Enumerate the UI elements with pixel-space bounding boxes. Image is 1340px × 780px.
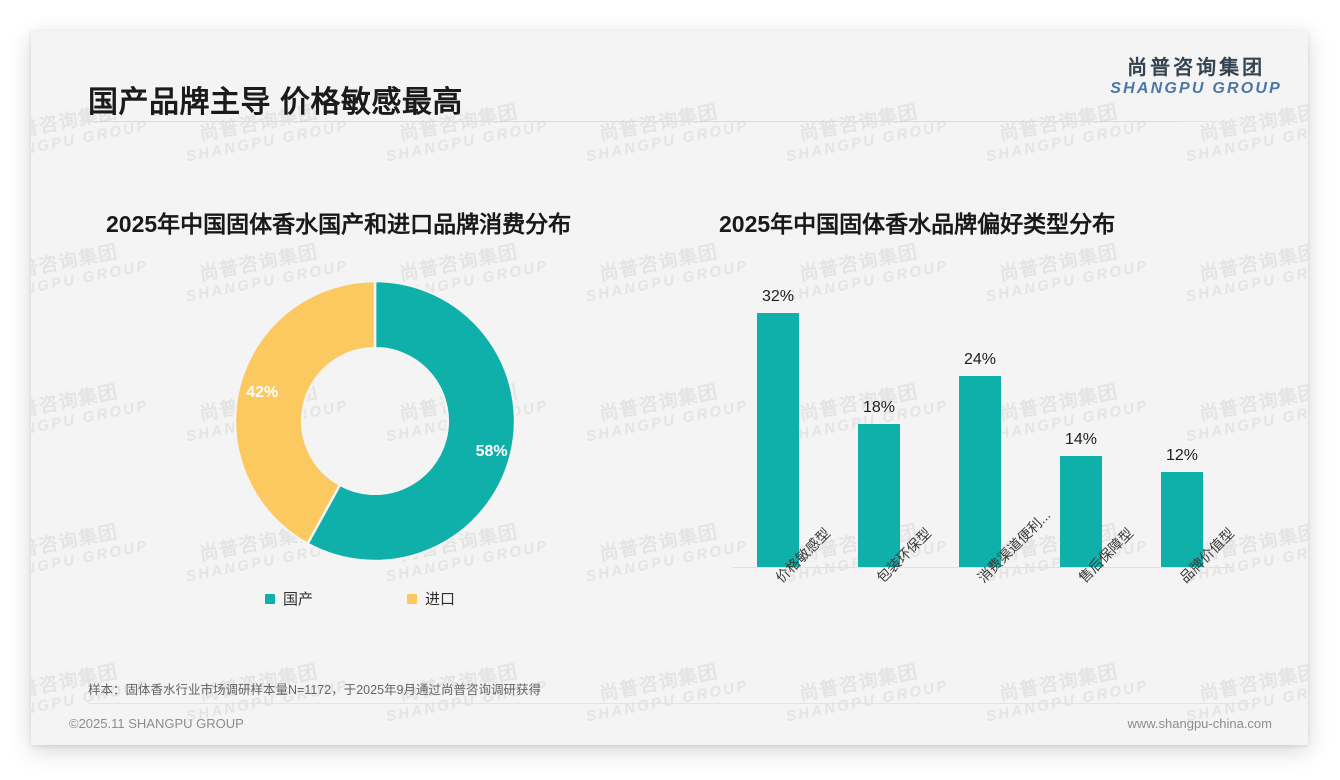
bar-group: 12% bbox=[1161, 281, 1203, 567]
slide-footer: ©2025.11 SHANGPU GROUP www.shangpu-china… bbox=[31, 705, 1308, 745]
watermark-en: SHANGPU GROUP bbox=[985, 118, 1151, 166]
donut-value-label: 58% bbox=[476, 443, 508, 460]
bar-value-label: 18% bbox=[836, 399, 922, 417]
bar-value-label: 14% bbox=[1038, 431, 1124, 449]
bar-group: 14% bbox=[1060, 281, 1102, 567]
watermark-en: SHANGPU GROUP bbox=[785, 118, 951, 166]
bar-rect[interactable] bbox=[959, 376, 1001, 567]
donut-svg: 58%42% bbox=[231, 277, 519, 565]
footer-website[interactable]: www.shangpu-china.com bbox=[1127, 716, 1272, 731]
bar-chart: 32%18%24%14%12% 价格敏感型包装环保型消费渠道便利...售后保障型… bbox=[725, 281, 1245, 581]
watermark-en: SHANGPU GROUP bbox=[585, 118, 751, 166]
donut-legend: 国产 进口 bbox=[265, 588, 565, 609]
page-title: 国产品牌主导 价格敏感最高 bbox=[88, 77, 463, 121]
donut-chart: 58%42% bbox=[231, 277, 519, 565]
slide-header: 国产品牌主导 价格敏感最高 尚普咨询集团 SHANGPU GROUP bbox=[31, 31, 1308, 123]
bar-group: 18% bbox=[858, 281, 900, 567]
bar-chart-title: 2025年中国固体香水品牌偏好类型分布 bbox=[719, 205, 1115, 239]
brand-logo-cn: 尚普咨询集团 bbox=[1110, 58, 1282, 79]
brand-logo-en: SHANGPU GROUP bbox=[1110, 81, 1282, 98]
donut-value-label: 42% bbox=[246, 384, 278, 401]
watermark-en: SHANGPU GROUP bbox=[185, 118, 351, 166]
bar-plot-area: 32%18%24%14%12% bbox=[725, 281, 1245, 567]
bar-value-label: 24% bbox=[937, 351, 1023, 369]
header-divider bbox=[88, 121, 1251, 122]
watermark-en: SHANGPU GROUP bbox=[1185, 118, 1308, 166]
bar-value-label: 12% bbox=[1139, 447, 1225, 465]
footer-copyright: ©2025.11 SHANGPU GROUP bbox=[69, 716, 244, 731]
legend-label-domestic: 国产 bbox=[283, 588, 313, 609]
chart-panel-donut: 2025年中国固体香水国产和进口品牌消费分布 58%42% 国产 进口 bbox=[53, 173, 673, 643]
legend-item-domestic[interactable]: 国产 bbox=[265, 588, 313, 609]
slide-canvas: 尚普咨询集团SHANGPU GROUP尚普咨询集团SHANGPU GROUP尚普… bbox=[31, 31, 1308, 745]
donut-chart-title: 2025年中国固体香水国产和进口品牌消费分布 bbox=[106, 205, 571, 239]
bar-rect[interactable] bbox=[858, 424, 900, 567]
brand-logo: 尚普咨询集团 SHANGPU GROUP bbox=[1110, 58, 1282, 98]
watermark-en: SHANGPU GROUP bbox=[385, 118, 551, 166]
legend-label-import: 进口 bbox=[425, 588, 455, 609]
legend-swatch-domestic bbox=[265, 594, 275, 604]
bar-value-label: 32% bbox=[735, 288, 821, 306]
legend-item-import[interactable]: 进口 bbox=[407, 588, 455, 609]
legend-swatch-import bbox=[407, 594, 417, 604]
bar-rect[interactable] bbox=[757, 313, 799, 567]
bar-group: 24% bbox=[959, 281, 1001, 567]
bar-group: 32% bbox=[757, 281, 799, 567]
chart-panel-bar: 2025年中国固体香水品牌偏好类型分布 32%18%24%14%12% 价格敏感… bbox=[681, 173, 1281, 643]
sample-footnote: 样本：固体香水行业市场调研样本量N=1172，于2025年9月通过尚普咨询调研获… bbox=[88, 679, 541, 698]
watermark-en: SHANGPU GROUP bbox=[31, 118, 150, 166]
footnote-divider bbox=[88, 703, 1251, 704]
